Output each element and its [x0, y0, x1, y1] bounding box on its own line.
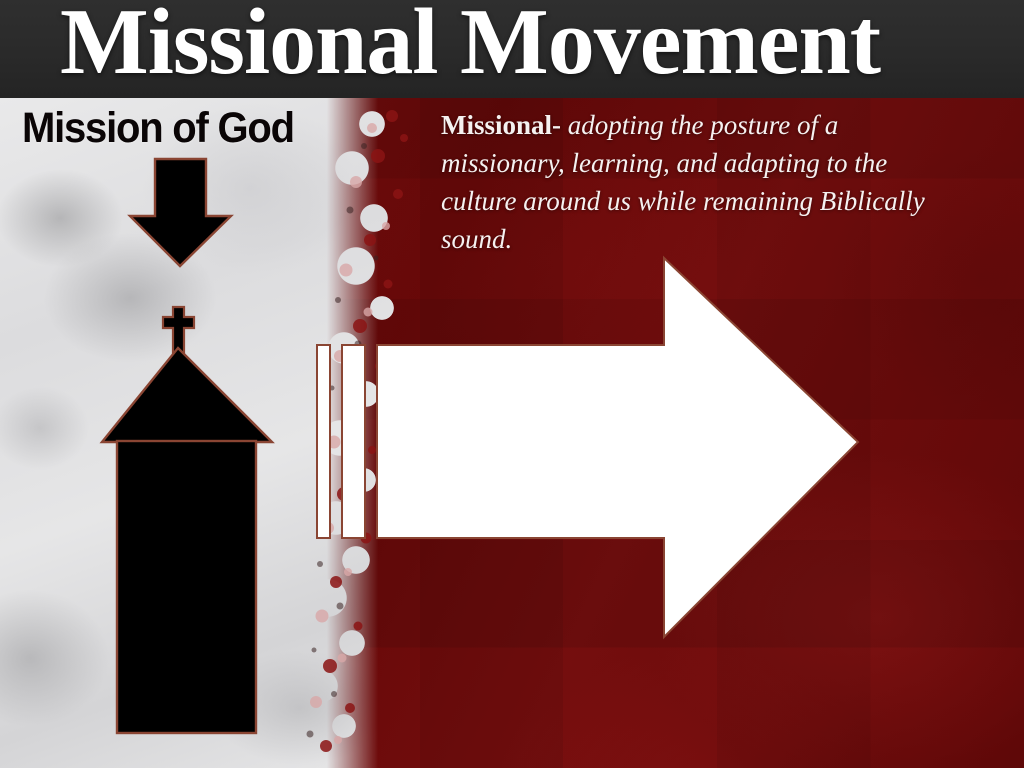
down-arrow-icon	[130, 159, 231, 266]
cross-icon	[163, 307, 194, 353]
diagram-graphics	[0, 0, 1024, 768]
church-roof-shape	[102, 348, 272, 442]
church-silhouette-icon	[102, 307, 272, 733]
motion-trail-bar-2	[342, 345, 365, 538]
right-arrow-icon	[377, 258, 858, 637]
motion-trail-bar-1	[317, 345, 330, 538]
church-body-shape	[117, 441, 256, 733]
slide-missional-movement: Missional Movement Mission of God Missio…	[0, 0, 1024, 768]
